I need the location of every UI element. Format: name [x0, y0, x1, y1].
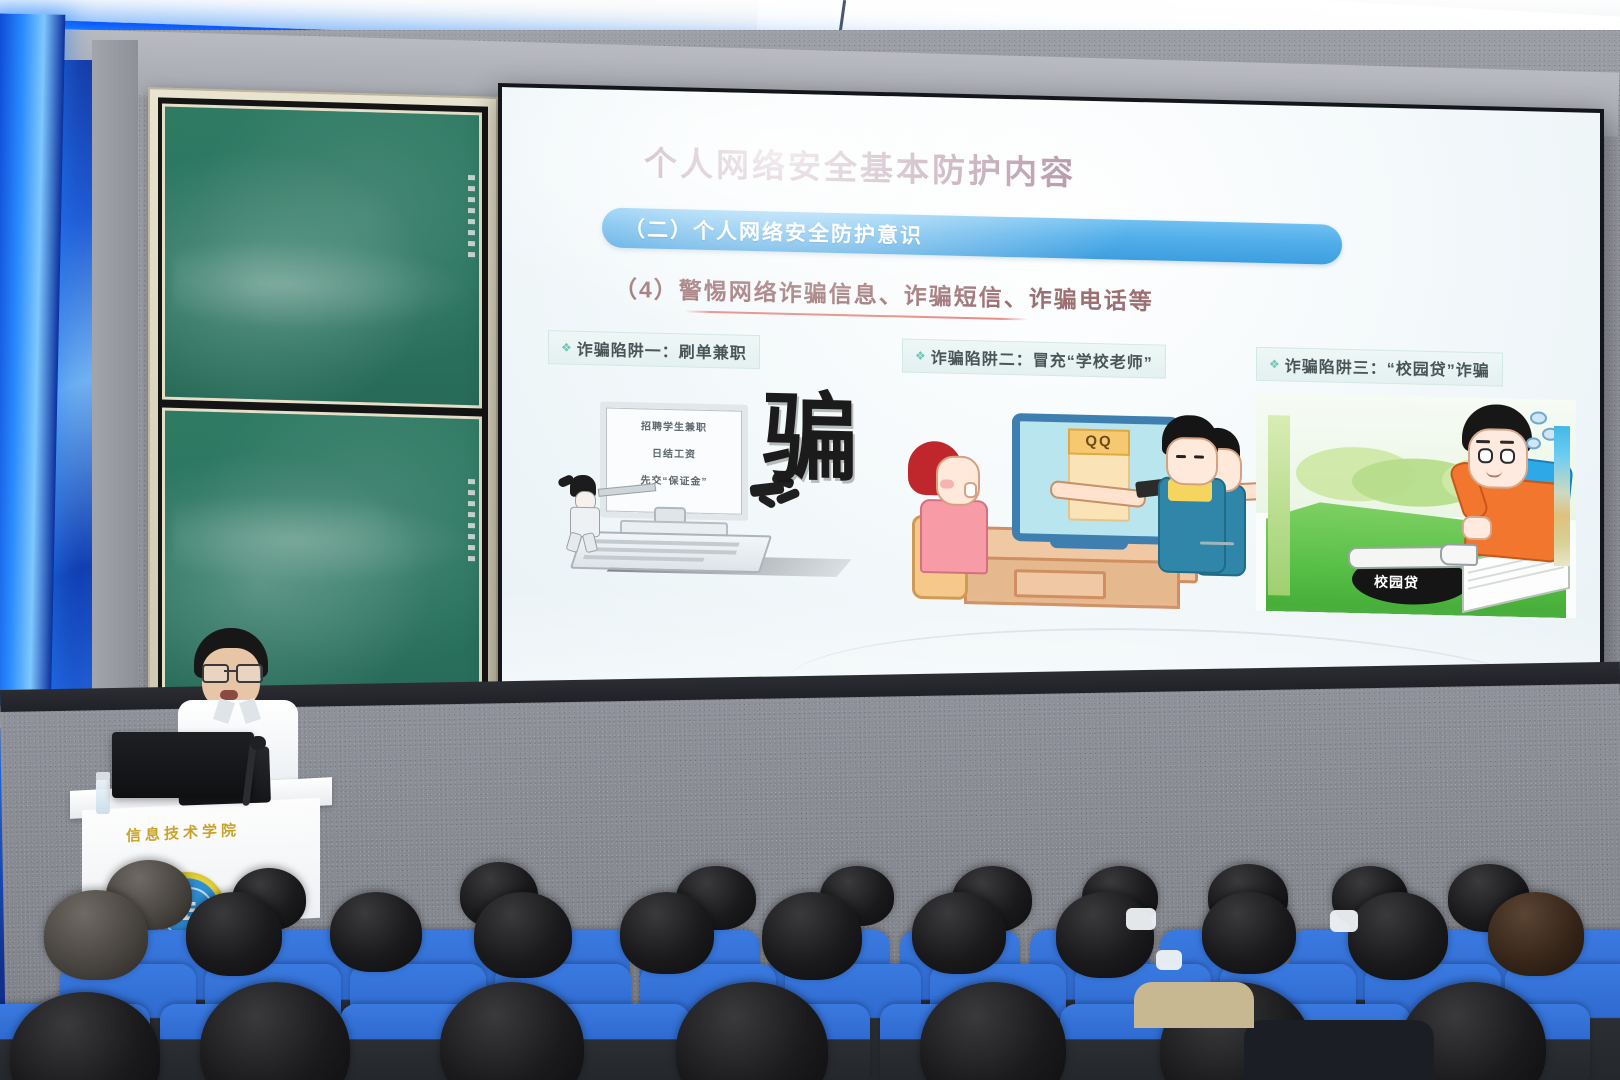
lecture-hall-photo: 个人网络安全基本防护内容 （二）个人网络安全防护意识 （4）警惕网络诈骗信息、诈… [0, 0, 1620, 1080]
scam-illustration: QQ [902, 384, 1222, 610]
eye-left [1478, 448, 1493, 463]
audience-head [1348, 892, 1448, 980]
podium-monitor [112, 732, 254, 798]
slide-bullet: （4）警惕网络诈骗信息、诈骗短信、诈骗电话等 [614, 270, 1154, 317]
eye-right [1500, 449, 1515, 464]
slide-section-label: （二）个人网络安全防护意识 [624, 213, 923, 250]
illustration-part-time-scam: 招聘学生兼职 日结工资 先交“保证金” [554, 376, 854, 598]
monitor-graphic: 招聘学生兼职 日结工资 先交“保证金” [600, 401, 748, 520]
illustration-campus-loan-scam: 校园贷 [1256, 393, 1576, 619]
audience-head [1202, 892, 1296, 974]
shoe [1440, 543, 1478, 566]
side-wall [1268, 415, 1290, 596]
blackboard [148, 87, 498, 721]
audience [0, 800, 1620, 1080]
slide-bullet-text: （4）警惕网络诈骗信息、诈骗短信、诈骗电话等 [614, 276, 1154, 315]
student-figure [560, 474, 612, 549]
chalk-smudge [173, 237, 471, 335]
eyeglass-left [202, 664, 229, 683]
face [1166, 437, 1218, 486]
face [1468, 428, 1528, 489]
face-mask [1156, 950, 1182, 970]
eyeglass-right [236, 664, 263, 683]
caption-bullet-icon: ❖ [1269, 357, 1279, 371]
scam-caption: ❖ 诈骗陷阱二：冒充“学校老师” [902, 338, 1166, 378]
audience-head [186, 892, 282, 976]
bystander-figure-a [1154, 414, 1226, 592]
projection-screen-frame: 个人网络安全基本防护内容 （二）个人网络安全防护意识 （4）警惕网络诈骗信息、诈… [498, 83, 1604, 735]
caption-text: 诈骗陷阱三：“校园贷”诈骗 [1285, 353, 1490, 382]
monitor-line-2: 日结工资 [606, 444, 742, 462]
torso [920, 499, 988, 575]
victim-figure [908, 441, 994, 601]
audience-head [474, 892, 572, 978]
scam-card: ❖ 诈骗陷阱二：冒充“学校老师” [902, 338, 1222, 646]
audience-head [1056, 892, 1154, 978]
bullet-underline [684, 310, 1028, 320]
caption-text: 诈骗陷阱二：冒充“学校老师” [931, 344, 1153, 373]
scam-glyph: 骗 [762, 389, 858, 487]
hand [1462, 516, 1492, 541]
audience-shoulders [1134, 982, 1254, 1028]
chalk-smudge [173, 491, 471, 589]
slide-section-pill: （二）个人网络安全防护意识 [602, 207, 1342, 264]
decor-gradient-stripe [1554, 426, 1570, 566]
audience-head [912, 892, 1006, 974]
blackboard-panel-top [162, 104, 482, 409]
scam-caption: ❖ 诈骗陷阱三：“校园贷”诈骗 [1256, 347, 1503, 387]
audience-head [762, 892, 862, 980]
monitor-line-1: 招聘学生兼职 [606, 417, 742, 435]
audience-shoulders [1244, 1020, 1434, 1080]
illustration-fake-teacher-scam: QQ [902, 384, 1232, 610]
sweat-drop [1526, 437, 1541, 449]
microphone-head [250, 736, 266, 750]
scam-illustration: 校园贷 [1256, 393, 1576, 619]
pit-label: 校园贷 [1374, 572, 1419, 593]
slide-title: 个人网络安全基本防护内容 [644, 136, 1566, 206]
audience-head [620, 892, 714, 974]
board-clip-row [468, 479, 476, 567]
audience-head [44, 890, 148, 980]
qq-logo-text: QQ [1068, 428, 1130, 455]
brow-left [1476, 440, 1490, 443]
scam-card-row: ❖ 诈骗陷阱一：刷单兼职 招聘学生兼职 日结工资 先交“保证金” [548, 330, 1576, 654]
scam-card: ❖ 诈骗陷阱三：“校园贷”诈骗 [1256, 347, 1576, 655]
board-clip-row [468, 175, 476, 263]
caption-bullet-icon: ❖ [915, 349, 925, 363]
desk-drawer [1014, 569, 1106, 599]
caption-bullet-icon: ❖ [561, 340, 571, 354]
eyeglass-bridge [224, 670, 238, 672]
mouth [964, 482, 977, 498]
brow-right [1500, 441, 1514, 444]
eye-right [1194, 455, 1204, 458]
scam-caption: ❖ 诈骗陷阱一：刷单兼职 [548, 330, 760, 369]
sweat-drop [1530, 411, 1547, 424]
cheek-blush [940, 479, 954, 488]
face-mask [1126, 908, 1156, 930]
audience-head [1488, 892, 1584, 976]
face-mask [1330, 910, 1358, 932]
projection-screen: 个人网络安全基本防护内容 （二）个人网络安全防护意识 （4）警惕网络诈骗信息、诈… [502, 87, 1600, 731]
scam-card: ❖ 诈骗陷阱一：刷单兼职 招聘学生兼职 日结工资 先交“保证金” [548, 330, 868, 638]
scam-illustration: 招聘学生兼职 日结工资 先交“保证金” [548, 376, 868, 602]
presentation-slide: 个人网络安全基本防护内容 （二）个人网络安全防护意识 （4）警惕网络诈骗信息、诈… [502, 87, 1600, 731]
eye-left [1176, 455, 1186, 458]
bottle-cap [96, 772, 110, 780]
caption-text: 诈骗陷阱一：刷单兼职 [577, 336, 747, 364]
audience-head [330, 892, 422, 972]
